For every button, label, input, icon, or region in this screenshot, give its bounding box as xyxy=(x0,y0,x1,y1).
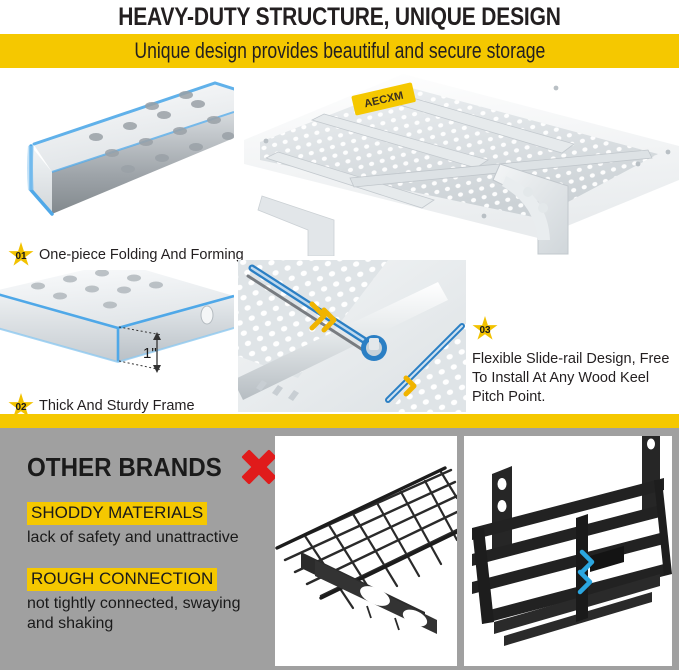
claim-tag-label: ROUGH CONNECTION xyxy=(27,568,217,591)
callout-02-label: Thick And Sturdy Frame xyxy=(39,398,195,414)
callout-03: 03 Flexible Slide-rail Design, Free To I… xyxy=(472,316,672,407)
claim-rough-connection: ROUGH CONNECTION not tightly connected, … xyxy=(27,568,240,635)
callout-03-label: Flexible Slide-rail Design, Free To Inst… xyxy=(472,350,672,407)
header-banner: Unique design provides beautiful and sec… xyxy=(0,34,679,68)
x-mark-icon xyxy=(243,451,275,483)
claim-body-text-line2: and shaking xyxy=(27,614,240,634)
star-badge-number: 03 xyxy=(472,316,498,342)
dimension-label-1-inch: 1" xyxy=(143,345,157,362)
section-divider xyxy=(0,414,679,428)
comparison-heading-text: OTHER BRANDS xyxy=(27,452,222,483)
callout-01: 01 One-piece Folding And Forming xyxy=(8,242,248,268)
star-badge-icon: 01 xyxy=(8,242,34,268)
feature-image-one-piece-folding xyxy=(0,68,234,240)
claim-shoddy-materials: SHODDY MATERIALS lack of safety and unat… xyxy=(27,502,239,548)
competitor-image-tube-frame-shelf xyxy=(464,436,672,666)
star-badge-number: 01 xyxy=(8,242,34,268)
claim-body-text-line1: not tightly connected, swaying xyxy=(27,594,240,614)
claim-tag-label: SHODDY MATERIALS xyxy=(27,502,207,525)
feature-image-slide-rail xyxy=(238,260,466,412)
feature-image-sturdy-frame: 1" xyxy=(0,270,234,392)
features-section: 01 One-piece Folding And Forming xyxy=(0,68,679,416)
page-title: HEAVY-DUTY STRUCTURE, UNIQUE DESIGN xyxy=(54,0,624,34)
comparison-section: OTHER BRANDS SHODDY MATERIALS lack of sa… xyxy=(0,428,679,670)
comparison-heading: OTHER BRANDS xyxy=(27,451,275,483)
feature-image-shelf-underside: AECXM xyxy=(238,68,679,256)
star-badge-icon: 03 xyxy=(472,316,498,342)
callout-01-label: One-piece Folding And Forming xyxy=(39,247,244,263)
competitor-image-wire-mesh-shelf xyxy=(275,436,457,666)
claim-body-text: lack of safety and unattractive xyxy=(27,528,239,548)
header-banner-text: Unique design provides beautiful and sec… xyxy=(134,38,545,64)
